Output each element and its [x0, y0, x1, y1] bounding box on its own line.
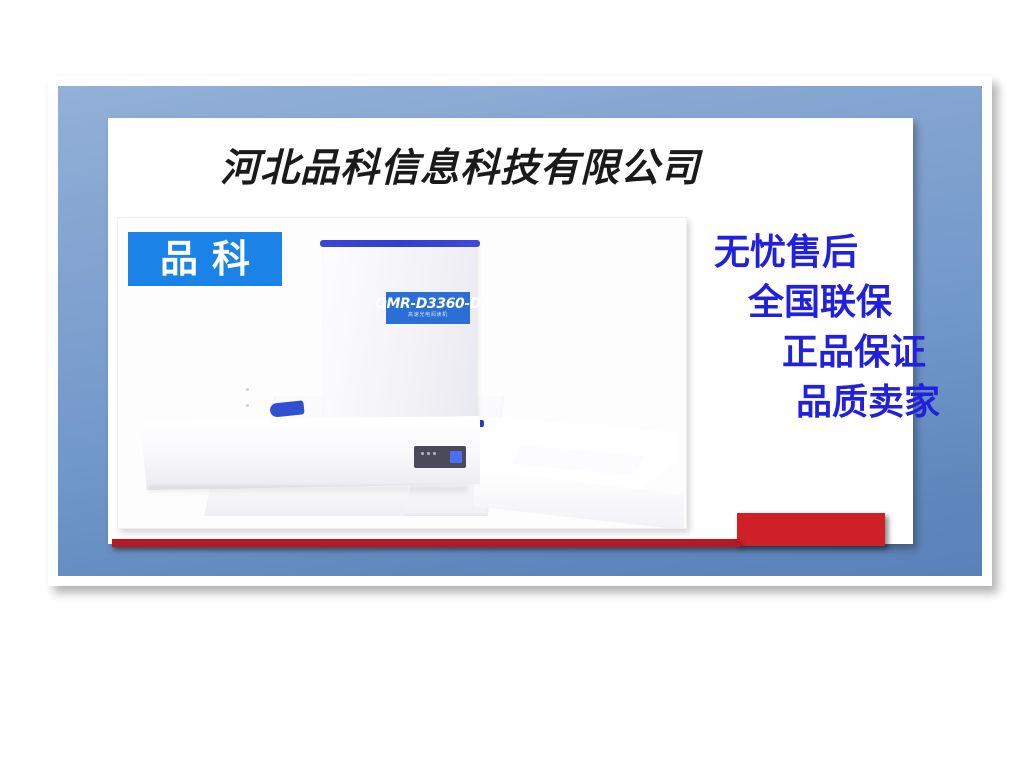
status-dot — [421, 452, 424, 455]
scanner-head-top-trim — [320, 240, 480, 247]
screw-dot — [246, 404, 249, 407]
status-dot — [433, 452, 436, 455]
brand-char-1: 品 — [160, 240, 198, 278]
status-indicator-dots — [421, 452, 436, 455]
selling-point-item: 品质卖家 — [690, 378, 940, 428]
status-dot — [427, 452, 430, 455]
brand-char-2: 科 — [212, 240, 250, 278]
red-accent-bar — [112, 539, 740, 547]
model-number-text: OMR-D3360-D — [375, 297, 481, 312]
brand-badge: 品 科 — [128, 232, 282, 286]
base-shadow — [148, 486, 468, 494]
selling-point-item: 无忧售后 — [690, 228, 940, 278]
selling-point-item: 全国联保 — [690, 278, 940, 328]
model-sublabel-text: 高速光电阅读机 — [408, 312, 448, 319]
selling-points-list: 无忧售后 全国联保 正品保证 品质卖家 — [690, 228, 948, 428]
page-title: 河北品科信息科技有限公司 — [150, 140, 770, 198]
power-button-icon — [450, 451, 462, 463]
scanner-head — [324, 242, 476, 424]
selling-point-item: 正品保证 — [690, 328, 940, 378]
screw-dot — [246, 388, 249, 391]
model-nameplate: OMR-D3360-D 高速光电阅读机 — [386, 292, 470, 324]
product-photo-card: OMR-D3360-D 高速光电阅读机 品 科 — [117, 217, 687, 529]
slide-canvas: 河北品科信息科技有限公司 OMR-D3360-D 高速光电阅读机 — [0, 0, 1024, 768]
control-panel — [414, 446, 466, 468]
red-accent-block — [737, 513, 885, 546]
